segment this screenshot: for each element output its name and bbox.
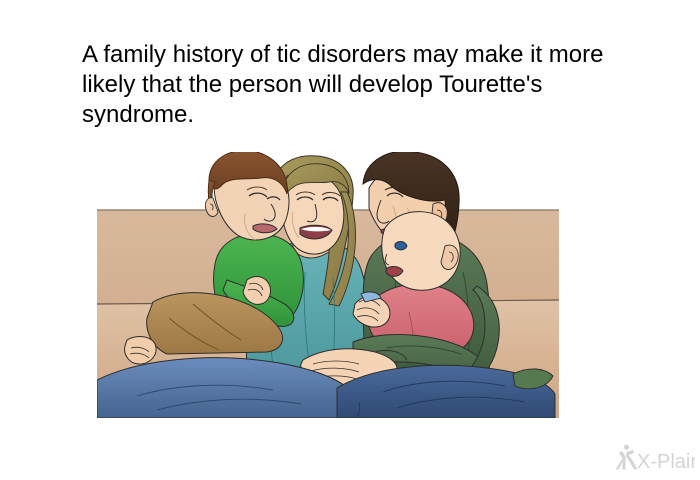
family-illustration: [97, 152, 559, 418]
page-root: A family history of tic disorders may ma…: [0, 0, 700, 480]
logo-text: X-Plain: [637, 451, 695, 473]
running-person-x-icon: [616, 445, 638, 470]
xplain-logo: X-Plain: [613, 443, 695, 475]
xplain-logo-svg: X-Plain: [613, 443, 695, 475]
caption-text: A family history of tic disorders may ma…: [82, 40, 612, 130]
family-illustration-svg: [97, 152, 559, 418]
